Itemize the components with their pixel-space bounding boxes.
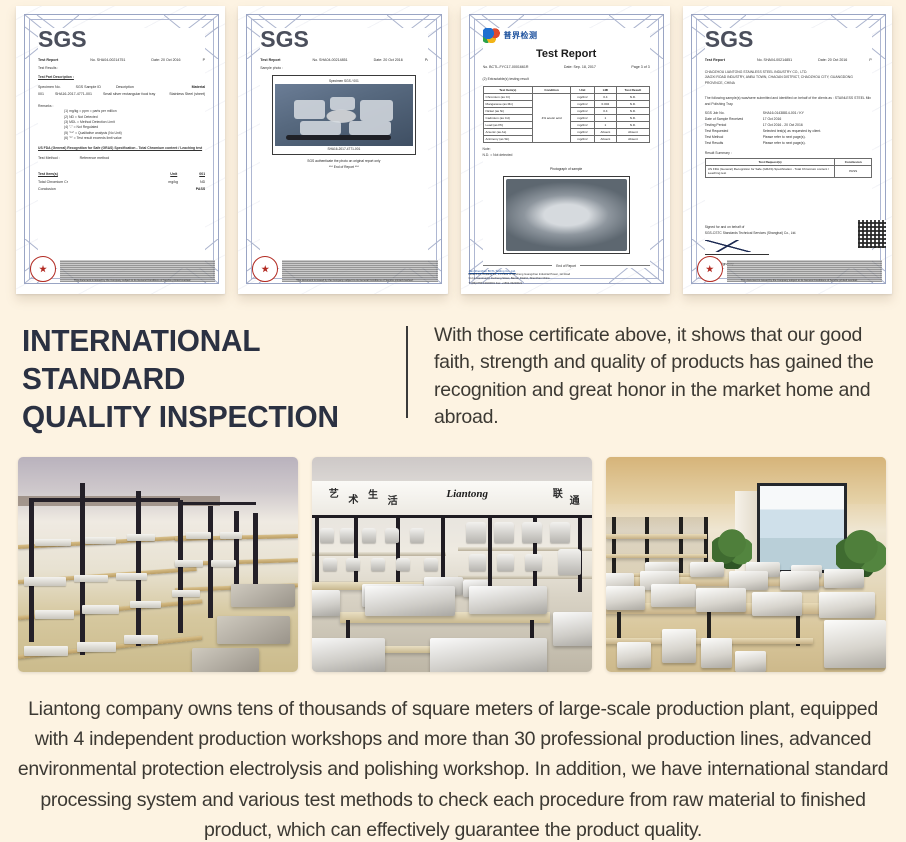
material-value: Stainless Steel (sheet) bbox=[169, 92, 205, 96]
report-date: Date: 20 Oct 2016 bbox=[374, 58, 403, 64]
report-ref-no: No. SHA04-00214851 bbox=[312, 58, 347, 64]
cell-test-request: US FDA (General) Recognition for Safe (G… bbox=[705, 166, 835, 177]
cell-lmi: 1 bbox=[594, 122, 616, 129]
qr-code-icon bbox=[858, 220, 886, 248]
report-ref-no: No. BCTL-FYC17-0001661R bbox=[483, 65, 529, 71]
red-seal-stamp-icon bbox=[30, 256, 56, 282]
page-title-line2: QUALITY INSPECTION bbox=[22, 398, 387, 436]
certificates-gallery: SGS Test Report No. SHA04-00214751 Date:… bbox=[16, 6, 892, 302]
showroom-photo[interactable]: 艺 术 生 活 Liantong 联 通 bbox=[312, 457, 592, 672]
sgs-logo: SGS bbox=[260, 28, 427, 51]
table-header-row: Test Item(s) Condition Unit LMI Test Res… bbox=[483, 87, 649, 94]
row-specimen-no: 001 bbox=[38, 92, 44, 96]
lab-brand-name: 普界检测 bbox=[504, 30, 538, 41]
sample-photo-frame bbox=[503, 176, 630, 254]
th-unit: Unit bbox=[571, 87, 595, 94]
th-test-item: Test Item(s) bbox=[483, 87, 533, 94]
sample-product-photo bbox=[275, 84, 413, 146]
handwritten-signature-icon bbox=[705, 240, 751, 252]
cell-lmi: 0.4 bbox=[594, 94, 616, 101]
cell-test-item: Arsenic (as As) bbox=[483, 129, 533, 136]
cell-test-item: Antimony (as Sb) bbox=[483, 136, 533, 143]
certificate-content: SGS Test Report No. SHA04-00214851 Date:… bbox=[260, 28, 427, 268]
th-test-request: Test Request(s) bbox=[705, 159, 835, 166]
cell-test-item: Cadmium (as Cd) bbox=[483, 115, 533, 122]
cell-lmi: 0.002 bbox=[594, 101, 616, 108]
cell-test-item: Manganese (as Mn) bbox=[483, 101, 533, 108]
showroom-display-tables-image: 艺 术 生 活 Liantong 联 通 bbox=[312, 457, 592, 672]
cell-unit: mg/dm² bbox=[571, 136, 595, 143]
certificate-content: 普界检测 Test Report No. BCTL-FYC17-0001661R… bbox=[483, 28, 650, 268]
cell-lmi: 0.4 bbox=[594, 108, 616, 115]
report-date: Date: 20 Oct 2016 bbox=[151, 58, 180, 64]
report-page: Page 3 of 3 bbox=[631, 65, 649, 71]
cell-unit: mg/dm² bbox=[571, 94, 595, 101]
cell-result: N.D. bbox=[617, 94, 650, 101]
cell-test-item: Nickel (as Ni) bbox=[483, 108, 533, 115]
certificate-card[interactable]: SGS Test Report No. SHA04-00214751 Date:… bbox=[16, 6, 225, 294]
end-of-report-divider: End of Report bbox=[483, 264, 650, 268]
report-ref-no: No. SHA04-00214851 bbox=[757, 58, 792, 64]
cell-lmi: Absent bbox=[594, 136, 616, 143]
report-date: Date: Sep. 18, 2017 bbox=[564, 65, 596, 71]
cell-lmi: Absent bbox=[594, 129, 616, 136]
cell-result: N.D. bbox=[617, 122, 650, 129]
certificate-footer: Jian Shenzhen BCTL Testing Co., Ltd. Lev… bbox=[469, 269, 662, 286]
col-description: Description bbox=[116, 85, 134, 89]
certificate-footer: This document is issued by the Company s… bbox=[30, 256, 215, 282]
cell-result: N.D. bbox=[617, 108, 650, 115]
report-title: Test Report bbox=[260, 58, 280, 64]
report-page: Page 1 of 3 bbox=[869, 58, 872, 64]
page-title: INTERNATIONAL STANDARD QUALITY INSPECTIO… bbox=[22, 322, 387, 435]
company-description-paragraph: Liantong company owns tens of thousands … bbox=[16, 694, 890, 842]
photo-caption-bottom: SHA16-2017-4771-001 bbox=[275, 146, 413, 152]
headline-section: INTERNATIONAL STANDARD QUALITY INSPECTIO… bbox=[22, 322, 884, 432]
result-summary-table: Test Request(s) Conclusion US FDA (Gener… bbox=[705, 158, 872, 177]
lab-contact-line: T: (86)0755-13020601 Fax: +1562-33220021 bbox=[469, 282, 662, 286]
page-title-line1: INTERNATIONAL STANDARD bbox=[22, 322, 387, 398]
photo-note-line2: *** End of Report *** bbox=[260, 165, 427, 171]
method-label: Test Method : bbox=[38, 156, 60, 162]
report-title: Test Report bbox=[38, 58, 58, 64]
lead-paragraph: With those certificate above, it shows t… bbox=[434, 322, 884, 431]
showroom-photo[interactable] bbox=[606, 457, 886, 672]
row-description: Small silver rectangular food tray bbox=[103, 92, 155, 96]
col-specimen-no: Specimen No. bbox=[38, 85, 61, 89]
cell-test-item: Chromium (as Cr) bbox=[483, 94, 533, 101]
certificate-footer: This document is issued by the Company s… bbox=[252, 256, 437, 282]
result-col-unit: Unit bbox=[170, 172, 177, 178]
showroom-photo[interactable] bbox=[18, 457, 298, 672]
report-ref-no: No. SHA04-00214751 bbox=[90, 58, 125, 64]
material-header: Material bbox=[192, 85, 206, 89]
certificate-card[interactable]: 普界检测 Test Report No. BCTL-FYC17-0001661R… bbox=[461, 6, 670, 294]
col-sample-id: SGS Sample ID bbox=[76, 85, 101, 89]
end-of-report-label: End of Report bbox=[556, 264, 576, 268]
certificate-card[interactable]: SGS Test Report No. SHA04-00214851 Date:… bbox=[683, 6, 892, 294]
cell-test-item: Lead (as Pb) bbox=[483, 122, 533, 129]
result-row-value: PASS bbox=[196, 187, 206, 193]
method-value: Reference method bbox=[80, 156, 110, 162]
cell-conclusion: PASS bbox=[835, 166, 872, 177]
certificate-content: SGS Test Report No. SHA04-00214851 Date:… bbox=[705, 28, 872, 268]
certificate-card[interactable]: SGS Test Report No. SHA04-00214851 Date:… bbox=[238, 6, 447, 294]
photo-caption: Photograph of sample bbox=[483, 167, 650, 173]
red-seal-stamp-icon bbox=[697, 256, 723, 282]
showroom-photo-gallery: 艺 术 生 活 Liantong 联 通 bbox=[18, 457, 886, 672]
result-row-label: Conclusion bbox=[38, 187, 56, 193]
report-title: Test Report bbox=[483, 48, 650, 60]
applicant-line2: JIAOXI ROAD INDUSTRY, ANBU TOWN, CHAOAN … bbox=[705, 75, 872, 86]
cell-condition: 4% acetic acid bbox=[533, 94, 571, 143]
showroom-shelving-image bbox=[18, 457, 298, 672]
showroom-wide-hall-image bbox=[606, 457, 886, 672]
certificate-content: SGS Test Report No. SHA04-00214751 Date:… bbox=[38, 28, 205, 268]
wall-banner: 艺 术 生 活 Liantong 联 通 bbox=[312, 481, 592, 518]
sample-product-photo bbox=[506, 179, 627, 251]
cell-unit: mg/dm² bbox=[571, 129, 595, 136]
footer-note: This document is issued by the Company s… bbox=[74, 279, 211, 283]
certificate-footer: This document is issued by the Company s… bbox=[697, 256, 882, 282]
sgs-logo: SGS bbox=[705, 28, 872, 51]
row-sample-id: SHA16-2017-4771-001 bbox=[55, 92, 92, 96]
result-col-001: 001 bbox=[199, 172, 205, 178]
report-page: Page 1 of 3 bbox=[203, 58, 206, 64]
lab-logo-icon bbox=[483, 28, 500, 43]
cell-unit: mg/dm² bbox=[571, 101, 595, 108]
lab-brand: 普界检测 bbox=[483, 28, 650, 43]
cell-result: N.D. bbox=[617, 101, 650, 108]
result-col-test-item: Test Item(s) bbox=[38, 172, 58, 178]
factory-poster bbox=[757, 483, 847, 573]
cell-result: N.D. bbox=[617, 115, 650, 122]
report-title: Test Report bbox=[705, 58, 725, 64]
table-row: US FDA (General) Recognition for Safe (G… bbox=[705, 166, 871, 177]
vertical-divider bbox=[406, 326, 408, 418]
report-page: Page 3 of 3 bbox=[425, 58, 428, 64]
red-seal-stamp-icon bbox=[252, 256, 278, 282]
cell-lmi: 1 bbox=[594, 115, 616, 122]
sgs-logo: SGS bbox=[38, 28, 205, 51]
sample-photo-label: Sample photo : bbox=[260, 66, 427, 71]
cell-unit: mg/dm² bbox=[571, 115, 595, 122]
cell-unit: mg/dm² bbox=[571, 122, 595, 129]
result-row-unit: mg/kg bbox=[168, 180, 178, 186]
sample-intro-text: The following sample(s) was/were submitt… bbox=[705, 95, 872, 107]
cell-result: Absent bbox=[617, 136, 650, 143]
result-row-label: Total Chromium Cr bbox=[38, 180, 68, 186]
table-header-row: Test Request(s) Conclusion bbox=[705, 159, 871, 166]
result-summary-label: Result Summary : bbox=[705, 151, 872, 156]
footer-note: This document is issued by the Company s… bbox=[741, 279, 878, 283]
extractables-results-table: Test Item(s) Condition Unit LMI Test Res… bbox=[483, 86, 650, 143]
report-date: Date: 20 Oct 2016 bbox=[818, 58, 847, 64]
cell-result: Absent bbox=[617, 129, 650, 136]
th-test-result: Test Result bbox=[617, 87, 650, 94]
footer-note: This document is issued by the Company s… bbox=[296, 279, 433, 283]
cell-unit: mg/dm² bbox=[571, 108, 595, 115]
th-lmi: LMI bbox=[594, 87, 616, 94]
th-condition: Condition bbox=[533, 87, 571, 94]
table-row: Chromium (as Cr) 4% acetic acid mg/dm² 0… bbox=[483, 94, 649, 101]
th-conclusion: Conclusion bbox=[835, 159, 872, 166]
sample-photo-frame: Specimen SGS / 001 SHA16-2017-4771-001 bbox=[272, 75, 416, 155]
result-row-value: ND bbox=[200, 180, 205, 186]
signed-line2: SGS-CSTC Standards Technical Services (S… bbox=[705, 231, 872, 237]
